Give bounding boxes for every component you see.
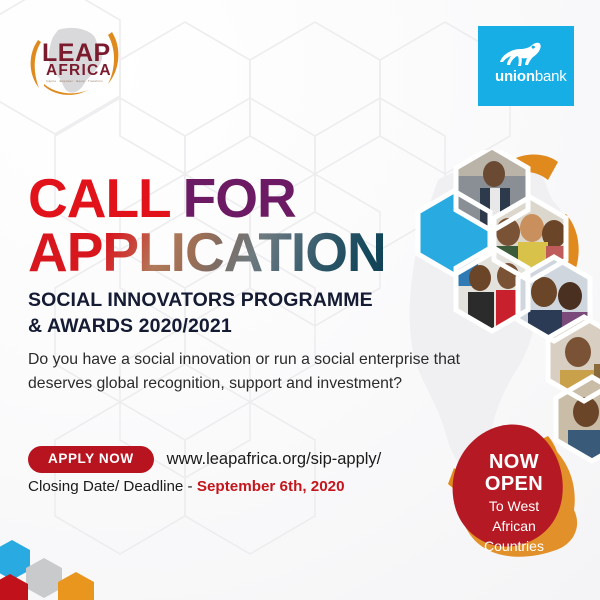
badge-line-open: OPEN: [448, 474, 580, 496]
unionbank-wordmark: unionbank: [495, 69, 567, 84]
headline-word-application: APPLICATION: [28, 224, 386, 280]
leap-logo-wordmark-africa: AFRICA: [46, 63, 112, 79]
headline: CALLFOR APPLICATION: [28, 172, 386, 280]
badge-line-african: African: [448, 518, 580, 535]
subtitle-line-1: SOCIAL INNOVATORS PROGRAMME: [28, 288, 373, 314]
leaping-horse-icon: [498, 40, 544, 68]
badge-line-to-west: To West: [448, 498, 580, 515]
body-copy: Do you have a social innovation or run a…: [28, 348, 468, 396]
subtitle-line-2: & AWARDS 2020/2021: [28, 314, 373, 340]
hex-cyan: [0, 540, 30, 580]
hex-red: [0, 574, 28, 600]
badge-line-now: NOW: [448, 452, 580, 474]
hex-gray: [26, 558, 62, 598]
unionbank-logo: unionbank: [478, 26, 574, 106]
badge-line-countries: Countries: [448, 538, 580, 555]
badge-text-block: NOW OPEN To West African Countries: [448, 452, 580, 555]
corner-hexagon-decoration: [0, 530, 110, 600]
closing-date-value: September 6th, 2020: [197, 478, 345, 495]
hex-orange: [58, 572, 94, 600]
unionbank-word-union: union: [495, 68, 535, 85]
leap-logo-tagline: Inspire · Empower · Equip · Transform: [46, 80, 103, 83]
unionbank-word-bank: bank: [535, 68, 567, 85]
apply-now-button[interactable]: APPLY NOW: [28, 446, 154, 473]
leap-africa-logo: LEAP AFRICA Inspire · Empower · Equip · …: [22, 22, 147, 100]
now-open-badge: NOW OPEN To West African Countries: [448, 424, 580, 560]
headline-word-call: CALL: [28, 167, 171, 229]
apply-row: APPLY NOW www.leapafrica.org/sip-apply/: [28, 446, 381, 473]
programme-subtitle: SOCIAL INNOVATORS PROGRAMME & AWARDS 202…: [28, 288, 373, 339]
closing-date-line: Closing Date/ Deadline - September 6th, …: [28, 478, 345, 495]
headline-word-for: FOR: [183, 167, 296, 229]
closing-date-label: Closing Date/ Deadline -: [28, 478, 197, 495]
application-url-link[interactable]: www.leapafrica.org/sip-apply/: [167, 450, 382, 469]
headline-line-1: CALLFOR: [28, 172, 386, 226]
poster-canvas: LEAP AFRICA Inspire · Empower · Equip · …: [0, 0, 600, 600]
